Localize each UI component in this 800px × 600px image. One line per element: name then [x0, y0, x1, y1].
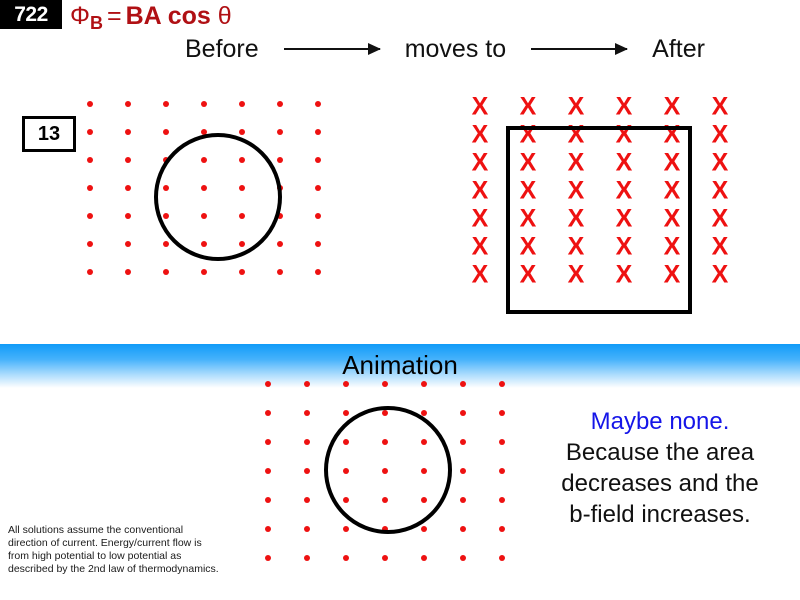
answer-reason-line-1: Because the area	[520, 437, 800, 468]
field-dot-marker	[460, 410, 466, 416]
field-dot-marker	[499, 497, 505, 503]
field-dot-marker	[460, 439, 466, 445]
answer-reason-line-3: b-field increases.	[520, 499, 800, 530]
field-dot-marker	[421, 526, 427, 532]
answer-text: Maybe none. Because the area decreases a…	[520, 406, 800, 530]
field-dot-marker	[382, 381, 388, 387]
field-dot-marker	[304, 468, 310, 474]
footnote-disclaimer: All solutions assume the conventional di…	[8, 524, 223, 576]
conducting-loop-circle	[324, 406, 452, 534]
field-dot-marker	[265, 381, 271, 387]
field-dot-marker	[343, 410, 349, 416]
field-dot-marker	[460, 497, 466, 503]
field-dot-marker	[265, 497, 271, 503]
field-dot-marker	[343, 381, 349, 387]
field-dot-marker	[499, 381, 505, 387]
field-dot-marker	[421, 381, 427, 387]
answer-reason-line-2: decreases and the	[520, 468, 800, 499]
field-dot-marker	[265, 410, 271, 416]
field-dot-marker	[499, 410, 505, 416]
answer-highlight: Maybe none.	[520, 406, 800, 437]
field-dot-marker	[460, 555, 466, 561]
field-dot-marker	[499, 555, 505, 561]
field-dot-marker	[460, 381, 466, 387]
field-dot-marker	[343, 555, 349, 561]
field-dot-marker	[304, 439, 310, 445]
field-dot-marker	[460, 526, 466, 532]
field-dot-marker	[499, 439, 505, 445]
field-dot-marker	[382, 555, 388, 561]
field-dot-marker	[499, 526, 505, 532]
field-dot-marker	[304, 555, 310, 561]
field-dot-marker	[343, 526, 349, 532]
field-dot-marker	[265, 468, 271, 474]
field-dot-marker	[304, 497, 310, 503]
field-dot-marker	[304, 410, 310, 416]
field-dot-marker	[499, 468, 505, 474]
field-dot-marker	[421, 555, 427, 561]
field-dot-marker	[265, 526, 271, 532]
field-dot-marker	[460, 468, 466, 474]
field-dot-marker	[265, 555, 271, 561]
field-dot-marker	[265, 439, 271, 445]
slide-canvas: 722 ΦB=BA cos θ Before moves to After 13…	[0, 0, 800, 600]
field-dot-marker	[304, 381, 310, 387]
field-dot-marker	[304, 526, 310, 532]
